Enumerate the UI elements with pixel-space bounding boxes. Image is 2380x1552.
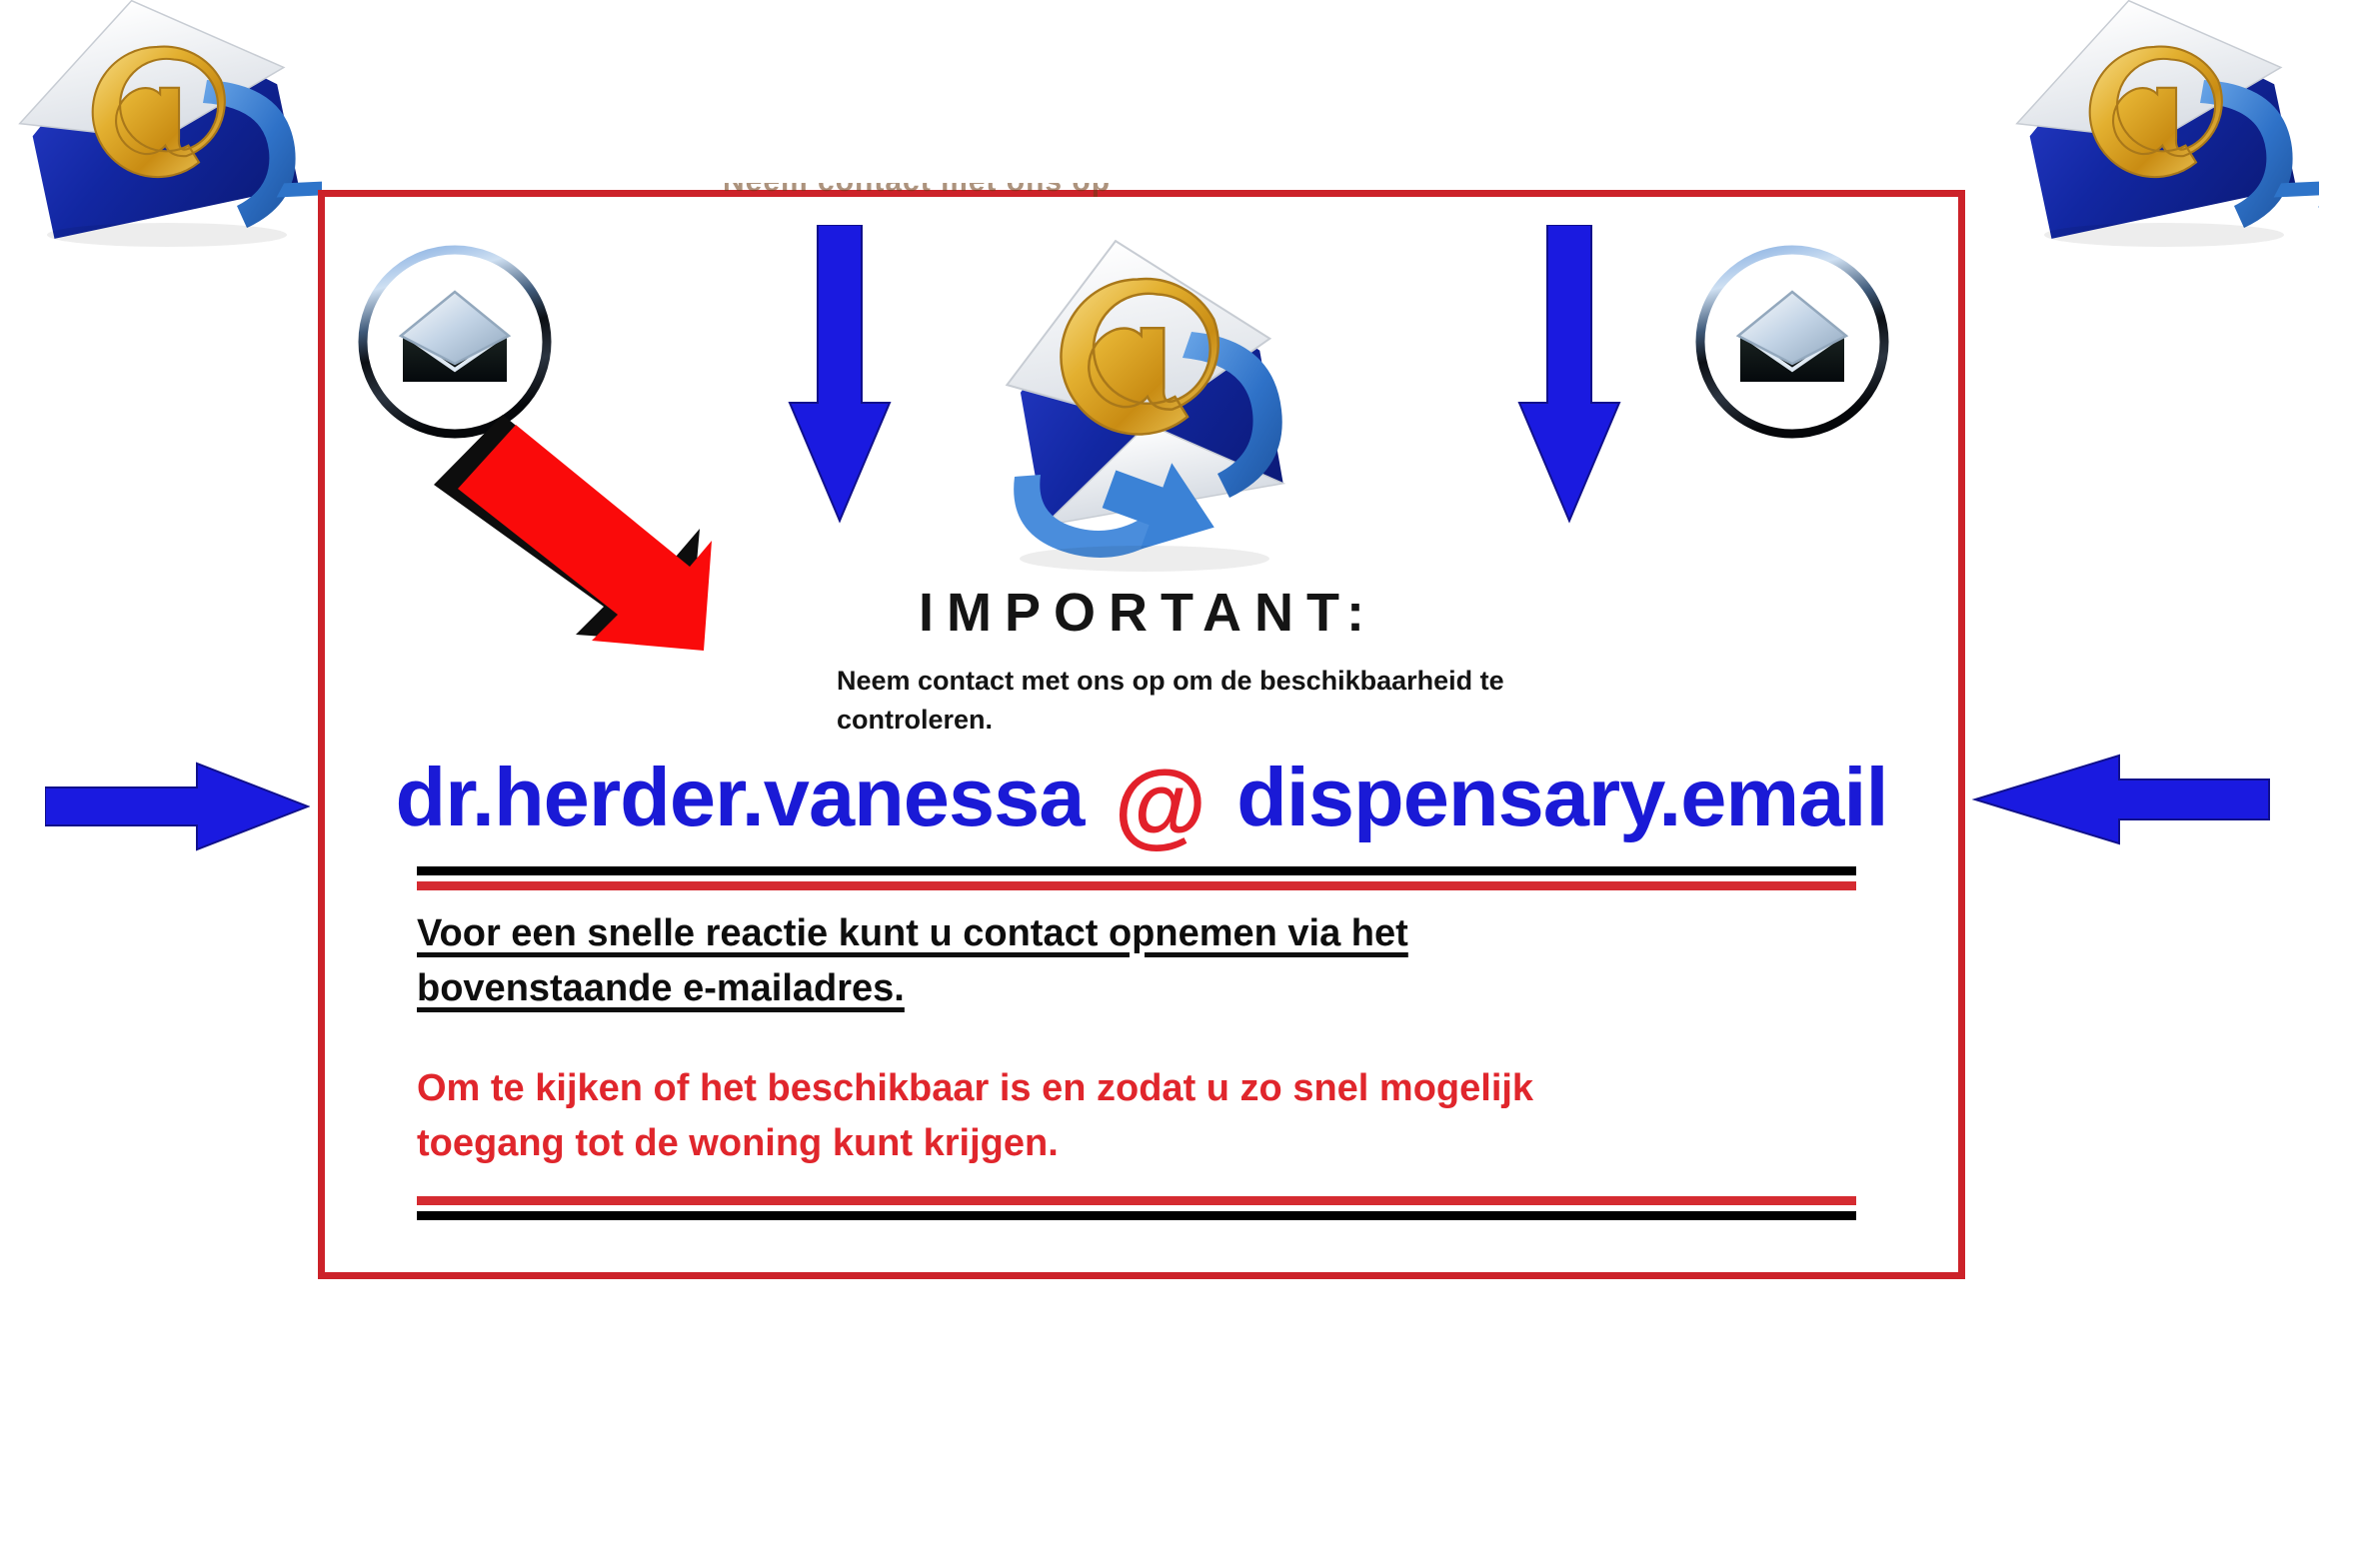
blue-down-arrow-icon [1514,225,1624,525]
divider-line-black [417,1211,1856,1220]
blue-down-arrow-icon [785,225,895,525]
email-local-part: dr.herder.vanessa [396,756,1085,838]
at-envelope-icon [980,177,1299,577]
email-address-row[interactable]: dr.herder.vanessa @ dispensary.email [325,737,1958,856]
at-envelope-icon [1989,0,2319,250]
circle-mail-icon [1692,242,1892,442]
poster-canvas: Neem contact met ons op [0,0,2380,1552]
blue-left-arrow-icon [1971,750,2271,849]
divider-line-red [417,1196,1856,1205]
blue-right-arrow-icon [45,762,310,851]
availability-line-1: Om te kijken of het beschikbaar is en zo… [417,1061,1666,1116]
instruction-line-2: bovenstaande e-mailadres. [417,961,1666,1016]
at-symbol: @ [1114,758,1206,852]
divider-bottom [417,1196,1856,1220]
notice-card: Neem contact met ons op [318,190,1965,1279]
contact-note: Neem contact met ons op om de beschikbaa… [837,662,1636,740]
page-title: IMPORTANT: [325,582,1958,644]
instruction-line-1: Voor een snelle reactie kunt u contact o… [417,906,1666,961]
at-envelope-icon [0,0,322,250]
availability-line-2: toegang tot de woning kunt krijgen. [417,1116,1666,1171]
divider-line-black [417,866,1856,875]
availability-paragraph: Om te kijken of het beschikbaar is en zo… [417,1061,1666,1172]
instruction-paragraph: Voor een snelle reactie kunt u contact o… [417,906,1666,1017]
email-domain-part: dispensary.email [1236,756,1887,838]
divider-line-red [417,881,1856,890]
divider-top [417,866,1856,890]
